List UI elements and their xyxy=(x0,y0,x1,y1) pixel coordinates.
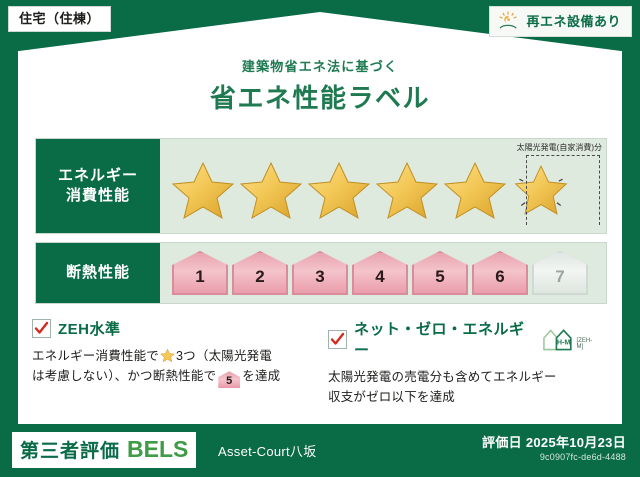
bels-jp-label: 第三者評価 xyxy=(20,436,120,463)
zeh-m-house-icon: H-M xyxy=(542,326,575,352)
zeh-text-part1: エネルギー消費性能で xyxy=(32,349,159,363)
dwelling-type-tag: 住宅（住棟） xyxy=(8,6,111,32)
solar-portion-note: 太陽光発電(自家消費)分 xyxy=(517,142,602,153)
insulation-label: 断熱性能 xyxy=(66,263,130,283)
evaluation-id: 9c0907fc-de6d-4488 xyxy=(540,452,626,462)
zeh-criterion-text: エネルギー消費性能で3つ（太陽光発電 は考慮しない）、かつ断熱性能で5を達成 xyxy=(32,346,302,388)
zeh-m-logo: H-M [ZEH-M] xyxy=(542,326,598,352)
net-zero-criterion: ネット・ゼロ・エネルギー H-M [ZEH-M] 太陽光発電の売電分も含めてエネ… xyxy=(312,318,608,414)
inline-badge-level: 5 xyxy=(226,375,232,387)
star-icon xyxy=(442,159,508,222)
bels-en-label: BELS xyxy=(127,436,188,463)
insulation-level-badge: 4 xyxy=(352,251,408,295)
star-icon xyxy=(306,159,372,222)
zeh-criterion: ZEH水準 エネルギー消費性能で3つ（太陽光発電 は考慮しない）、かつ断熱性能で… xyxy=(32,318,312,414)
level-number: 1 xyxy=(195,267,204,295)
zeh-m-logo-caption: [ZEH-M] xyxy=(577,338,598,352)
star-icon xyxy=(238,159,304,222)
energy-performance-label: 住宅（住棟） 再エネ設備あり 建築物省エネ法に基づく 省エネ性能ラベル xyxy=(0,0,640,477)
footer: 第三者評価 BELS Asset-Court八坂 評価日 2025年10月23日… xyxy=(0,424,640,477)
insulation-performance-body: 1 2 3 4 5 xyxy=(160,243,606,303)
label-subtitle: 建築物省エネ法に基づく xyxy=(0,56,640,75)
sun-icon xyxy=(498,11,520,31)
star-icon xyxy=(374,159,440,222)
zeh-checkbox xyxy=(32,319,51,338)
evaluation-date: 評価日 2025年10月23日 xyxy=(482,432,626,451)
level-number: 3 xyxy=(315,267,324,295)
energy-label-line2: 消費性能 xyxy=(66,186,130,206)
zeh-text-part3: を達成 xyxy=(242,369,280,383)
renewable-equipment-badge: 再エネ設備あり xyxy=(489,6,632,37)
star-rating xyxy=(160,159,572,222)
inline-insulation-badge: 5 xyxy=(218,371,240,388)
level-number: 2 xyxy=(255,267,264,295)
label-title: 省エネ性能ラベル xyxy=(0,78,640,115)
renewable-badge-label: 再エネ設備あり xyxy=(526,15,621,28)
insulation-performance-label-box: 断熱性能 xyxy=(36,243,160,303)
zeh-m-logo-text: H-M xyxy=(557,338,571,347)
insulation-performance-panel: 断熱性能 1 2 3 4 xyxy=(35,242,607,304)
insulation-level-badge: 2 xyxy=(232,251,288,295)
zeh-text-part2: は考慮しない）、かつ断熱性能で xyxy=(32,369,216,383)
net-zero-text-line1: 太陽光発電の売電分も含めてエネルギー xyxy=(328,370,557,384)
level-number: 7 xyxy=(555,267,564,295)
insulation-level-badges: 1 2 3 4 5 xyxy=(160,251,588,295)
zeh-star-count: 3つ（太陽光発電 xyxy=(176,349,272,363)
net-zero-criterion-header: ネット・ゼロ・エネルギー H-M [ZEH-M] xyxy=(328,318,598,360)
insulation-level-badge: 1 xyxy=(172,251,228,295)
net-zero-criterion-title: ネット・ゼロ・エネルギー xyxy=(354,318,533,360)
energy-performance-panel: エネルギー 消費性能 xyxy=(35,138,607,234)
energy-label-line1: エネルギー xyxy=(58,166,138,186)
criteria-section: ZEH水準 エネルギー消費性能で3つ（太陽光発電 は考慮しない）、かつ断熱性能で… xyxy=(32,318,608,414)
insulation-level-badge: 6 xyxy=(472,251,528,295)
level-number: 4 xyxy=(375,267,384,295)
energy-performance-label-box: エネルギー 消費性能 xyxy=(36,139,160,233)
solar-portion-bracket xyxy=(526,155,600,225)
check-icon xyxy=(34,321,49,336)
level-number: 5 xyxy=(435,267,444,295)
inline-star-icon xyxy=(160,348,175,363)
net-zero-criterion-text: 太陽光発電の売電分も含めてエネルギー 収支がゼロ以下を達成 xyxy=(328,367,598,408)
energy-performance-body: 太陽光発電(自家消費)分 xyxy=(160,139,606,233)
check-icon xyxy=(330,332,345,347)
zeh-criterion-title: ZEH水準 xyxy=(58,318,121,339)
insulation-level-badge-inactive: 7 xyxy=(532,251,588,295)
net-zero-checkbox xyxy=(328,330,347,349)
level-number: 6 xyxy=(495,267,504,295)
star-icon xyxy=(170,159,236,222)
insulation-level-badge: 5 xyxy=(412,251,468,295)
net-zero-text-line2: 収支がゼロ以下を達成 xyxy=(328,390,455,404)
zeh-criterion-header: ZEH水準 xyxy=(32,318,302,339)
bels-certification-box: 第三者評価 BELS xyxy=(12,432,196,468)
building-name: Asset-Court八坂 xyxy=(218,441,317,460)
insulation-level-badge: 3 xyxy=(292,251,348,295)
